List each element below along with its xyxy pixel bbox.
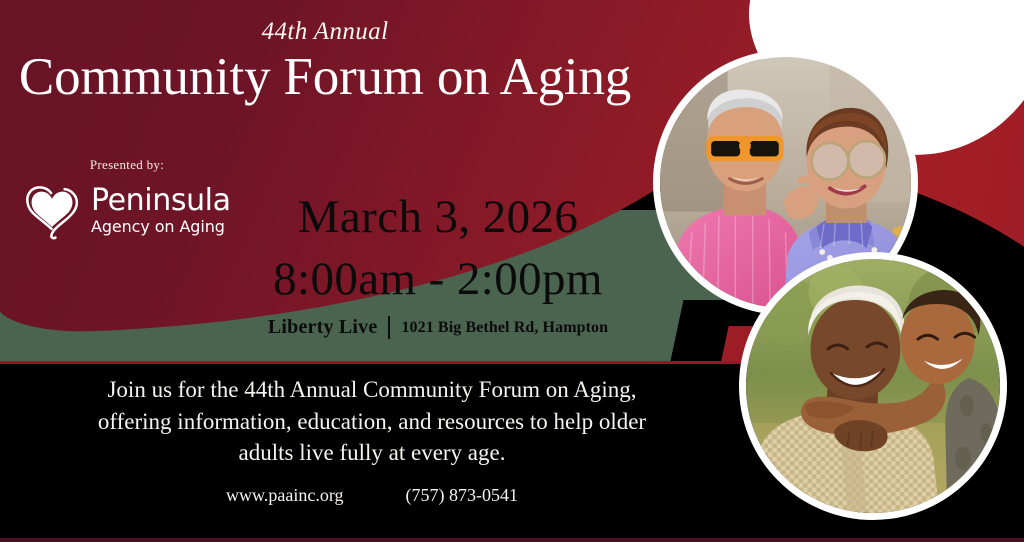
peninsula-agency-logo: Peninsula Agency on Aging [22, 176, 232, 244]
venue-name: Liberty Live [268, 316, 378, 339]
venue-divider [388, 316, 390, 339]
event-time: 8:00am - 2:00pm [228, 252, 648, 306]
description-line-3: adults live fully at every age. [52, 437, 692, 469]
phone-number[interactable]: (757) 873-0541 [405, 485, 517, 506]
logo-text-block: Peninsula Agency on Aging [91, 186, 231, 235]
page-title: Community Forum on Aging [0, 49, 650, 106]
senior-man-with-child-photo [739, 252, 1007, 520]
heart-icon [22, 179, 84, 241]
presented-by-label: Presented by: [32, 157, 222, 173]
contact-row: www.paainc.org (757) 873-0541 [52, 485, 692, 506]
event-date: March 3, 2026 [228, 190, 648, 244]
event-banner: 44th Annual Community Forum on Aging Pre… [0, 0, 1024, 542]
logo-name: Peninsula [91, 186, 231, 216]
event-description: Join us for the 44th Annual Community Fo… [52, 374, 692, 469]
background-bottom-hairline [0, 538, 1024, 542]
description-line-1: Join us for the 44th Annual Community Fo… [52, 374, 692, 406]
event-venue: Liberty Live 1021 Big Bethel Rd, Hampton [228, 316, 648, 339]
venue-address: 1021 Big Bethel Rd, Hampton [401, 319, 608, 337]
description-line-2: offering information, education, and res… [52, 406, 692, 438]
event-kicker: 44th Annual [0, 18, 650, 46]
website-link[interactable]: www.paainc.org [226, 485, 343, 506]
logo-subtitle: Agency on Aging [91, 219, 231, 235]
